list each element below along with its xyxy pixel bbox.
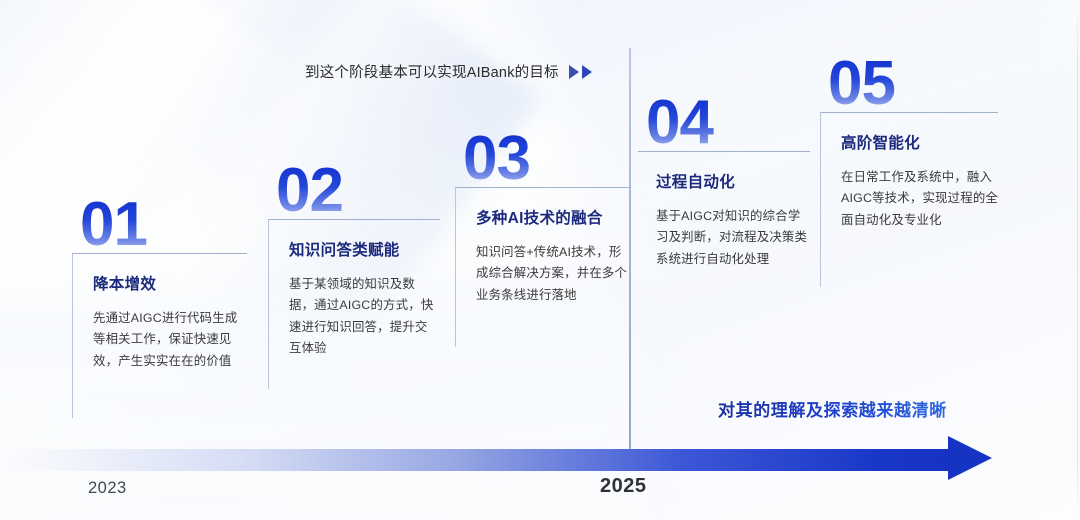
stage-card-02[interactable]: 02 知识问答类赋能 基于某领域的知识及数据，通过AIGC的方式，快速进行知识回… <box>268 162 440 389</box>
stage-card-05[interactable]: 05 高阶智能化 在日常工作及系统中，融入AIGC等技术，实现过程的全面自动化及… <box>820 55 998 287</box>
chevron-right-icon-2 <box>582 65 592 79</box>
stage-card-body: 多种AI技术的融合 知识问答+传统AI技术，形成综合解决方案，并在多个业务条线进… <box>455 187 630 347</box>
stage-title: 过程自动化 <box>656 170 810 192</box>
stage-description: 基于AIGC对知识的综合学习及判断，对流程及决策类系统进行自动化处理 <box>656 206 810 270</box>
chevron-right-icon-1 <box>569 65 579 79</box>
stage-title: 高阶智能化 <box>841 131 998 153</box>
double-chevron-right-icon <box>569 65 592 79</box>
right-edge-line <box>1077 0 1078 520</box>
stage-description: 基于某领域的知识及数据，通过AIGC的方式，快速进行知识回答，提升交互体验 <box>289 274 440 359</box>
stage-title: 多种AI技术的融合 <box>476 206 630 228</box>
stage-card-body: 过程自动化 基于AIGC对知识的综合学习及判断，对流程及决策类系统进行自动化处理 <box>638 151 810 321</box>
bottom-highlight-note: 对其的理解及探索越来越清晰 <box>718 396 947 421</box>
stage-card-body: 高阶智能化 在日常工作及系统中，融入AIGC等技术，实现过程的全面自动化及专业化 <box>820 112 998 287</box>
stage-card-03[interactable]: 03 多种AI技术的融合 知识问答+传统AI技术，形成综合解决方案，并在多个业务… <box>455 130 630 347</box>
stage-description: 先通过AIGC进行代码生成等相关工作，保证快速见效，产生实实在在的价值 <box>93 308 247 372</box>
stage-card-body: 降本增效 先通过AIGC进行代码生成等相关工作，保证快速见效，产生实实在在的价值 <box>72 253 247 418</box>
annotation-text: 到这个阶段基本可以实现AIBank的目标 <box>305 61 559 82</box>
stage-number: 04 <box>646 94 810 151</box>
timeline-arrow <box>0 440 1080 486</box>
stage-title: 知识问答类赋能 <box>289 238 440 260</box>
timeline-bar <box>0 449 952 471</box>
stage-number: 01 <box>80 196 247 253</box>
top-annotation: 到这个阶段基本可以实现AIBank的目标 <box>305 61 592 82</box>
stage-card-01[interactable]: 01 降本增效 先通过AIGC进行代码生成等相关工作，保证快速见效，产生实实在在… <box>72 196 247 418</box>
stage-number: 05 <box>828 55 998 112</box>
stage-title: 降本增效 <box>93 272 247 294</box>
stage-description: 在日常工作及系统中，融入AIGC等技术，实现过程的全面自动化及专业化 <box>841 167 998 231</box>
stage-description: 知识问答+传统AI技术，形成综合解决方案，并在多个业务条线进行落地 <box>476 242 630 306</box>
stage-card-body: 知识问答类赋能 基于某领域的知识及数据，通过AIGC的方式，快速进行知识回答，提… <box>268 219 440 389</box>
timeline-end-year: 2025 <box>600 475 647 498</box>
timeline-start-year: 2023 <box>88 479 127 498</box>
stage-card-04[interactable]: 04 过程自动化 基于AIGC对知识的综合学习及判断，对流程及决策类系统进行自动… <box>638 94 810 321</box>
stage-number: 03 <box>463 130 630 187</box>
right-arrow-icon <box>948 436 992 480</box>
stage-number: 02 <box>276 162 440 219</box>
